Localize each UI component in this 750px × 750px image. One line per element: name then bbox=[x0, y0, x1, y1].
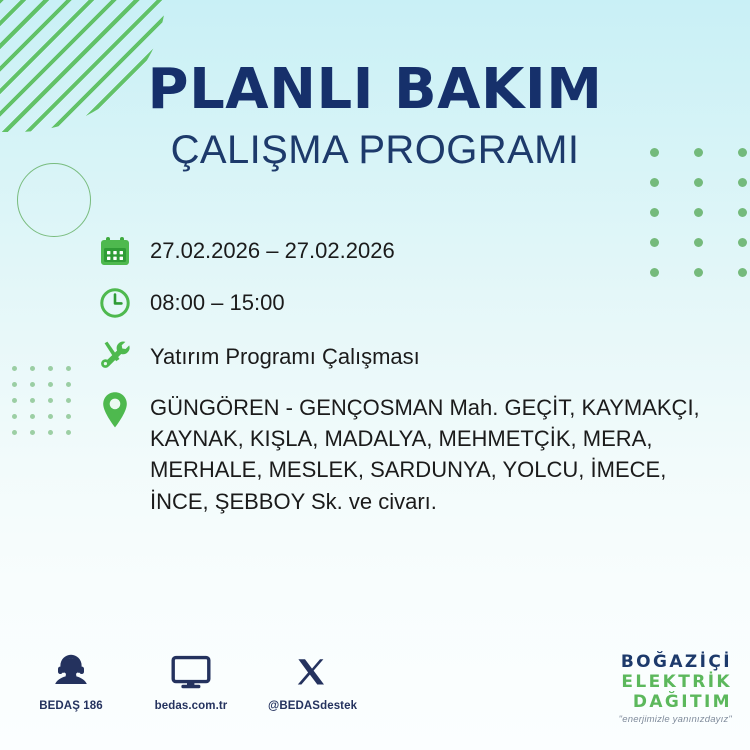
contact-phone[interactable]: BEDAŞ 186 bbox=[28, 652, 114, 712]
contact-social[interactable]: @BEDASdestek bbox=[268, 652, 354, 712]
planned-maintenance-poster: PLANLI BAKIM ÇALIŞMA PROGRAMI bbox=[0, 0, 750, 750]
info-row-time: 08:00 – 15:00 bbox=[98, 284, 720, 320]
time-range-value: 08:00 – 15:00 bbox=[150, 284, 285, 317]
logo-slogan: "enerjimizle yanınızdayız" bbox=[619, 715, 732, 725]
page-title: PLANLI BAKIM bbox=[0, 62, 750, 118]
work-type-value: Yatırım Programı Çalışması bbox=[150, 336, 420, 371]
contact-phone-label: BEDAŞ 186 bbox=[28, 700, 114, 712]
monitor-icon bbox=[148, 652, 234, 694]
contact-website-label: bedas.com.tr bbox=[148, 700, 234, 712]
calendar-icon bbox=[98, 232, 150, 268]
location-pin-icon bbox=[98, 388, 150, 430]
info-list: 27.02.2026 – 27.02.2026 08:00 – 15:00 bbox=[98, 232, 720, 517]
poster-heading: PLANLI BAKIM ÇALIŞMA PROGRAMI bbox=[0, 62, 750, 170]
tools-icon bbox=[98, 336, 150, 372]
circle-outline-decoration bbox=[17, 163, 91, 237]
poster-footer: BEDAŞ 186 bedas.com.tr bbox=[0, 652, 750, 736]
clock-icon bbox=[98, 284, 150, 320]
info-row-work-type: Yatırım Programı Çalışması bbox=[98, 336, 720, 372]
logo-line-elektrik: ELEKTRİK bbox=[619, 674, 732, 691]
contact-list: BEDAŞ 186 bedas.com.tr bbox=[28, 652, 354, 712]
support-agent-icon bbox=[28, 652, 114, 694]
company-logo: BOĞAZİÇİ ELEKTRİK DAĞITIM "enerjimizle y… bbox=[619, 654, 732, 725]
dot-grid-decoration-left bbox=[12, 366, 84, 446]
contact-website[interactable]: bedas.com.tr bbox=[148, 652, 234, 712]
contact-social-label: @BEDASdestek bbox=[268, 700, 354, 712]
x-logo-icon bbox=[268, 652, 354, 694]
page-subtitle: ÇALIŞMA PROGRAMI bbox=[0, 130, 750, 170]
address-value: GÜNGÖREN - GENÇOSMAN Mah. GEÇİT, KAYMAKÇ… bbox=[150, 388, 720, 517]
date-range-value: 27.02.2026 – 27.02.2026 bbox=[150, 232, 395, 265]
logo-line-dagitim: DAĞITIM bbox=[619, 694, 732, 711]
info-row-address: GÜNGÖREN - GENÇOSMAN Mah. GEÇİT, KAYMAKÇ… bbox=[98, 388, 720, 517]
info-row-date: 27.02.2026 – 27.02.2026 bbox=[98, 232, 720, 268]
logo-line-bogazici: BOĞAZİÇİ bbox=[619, 654, 732, 671]
